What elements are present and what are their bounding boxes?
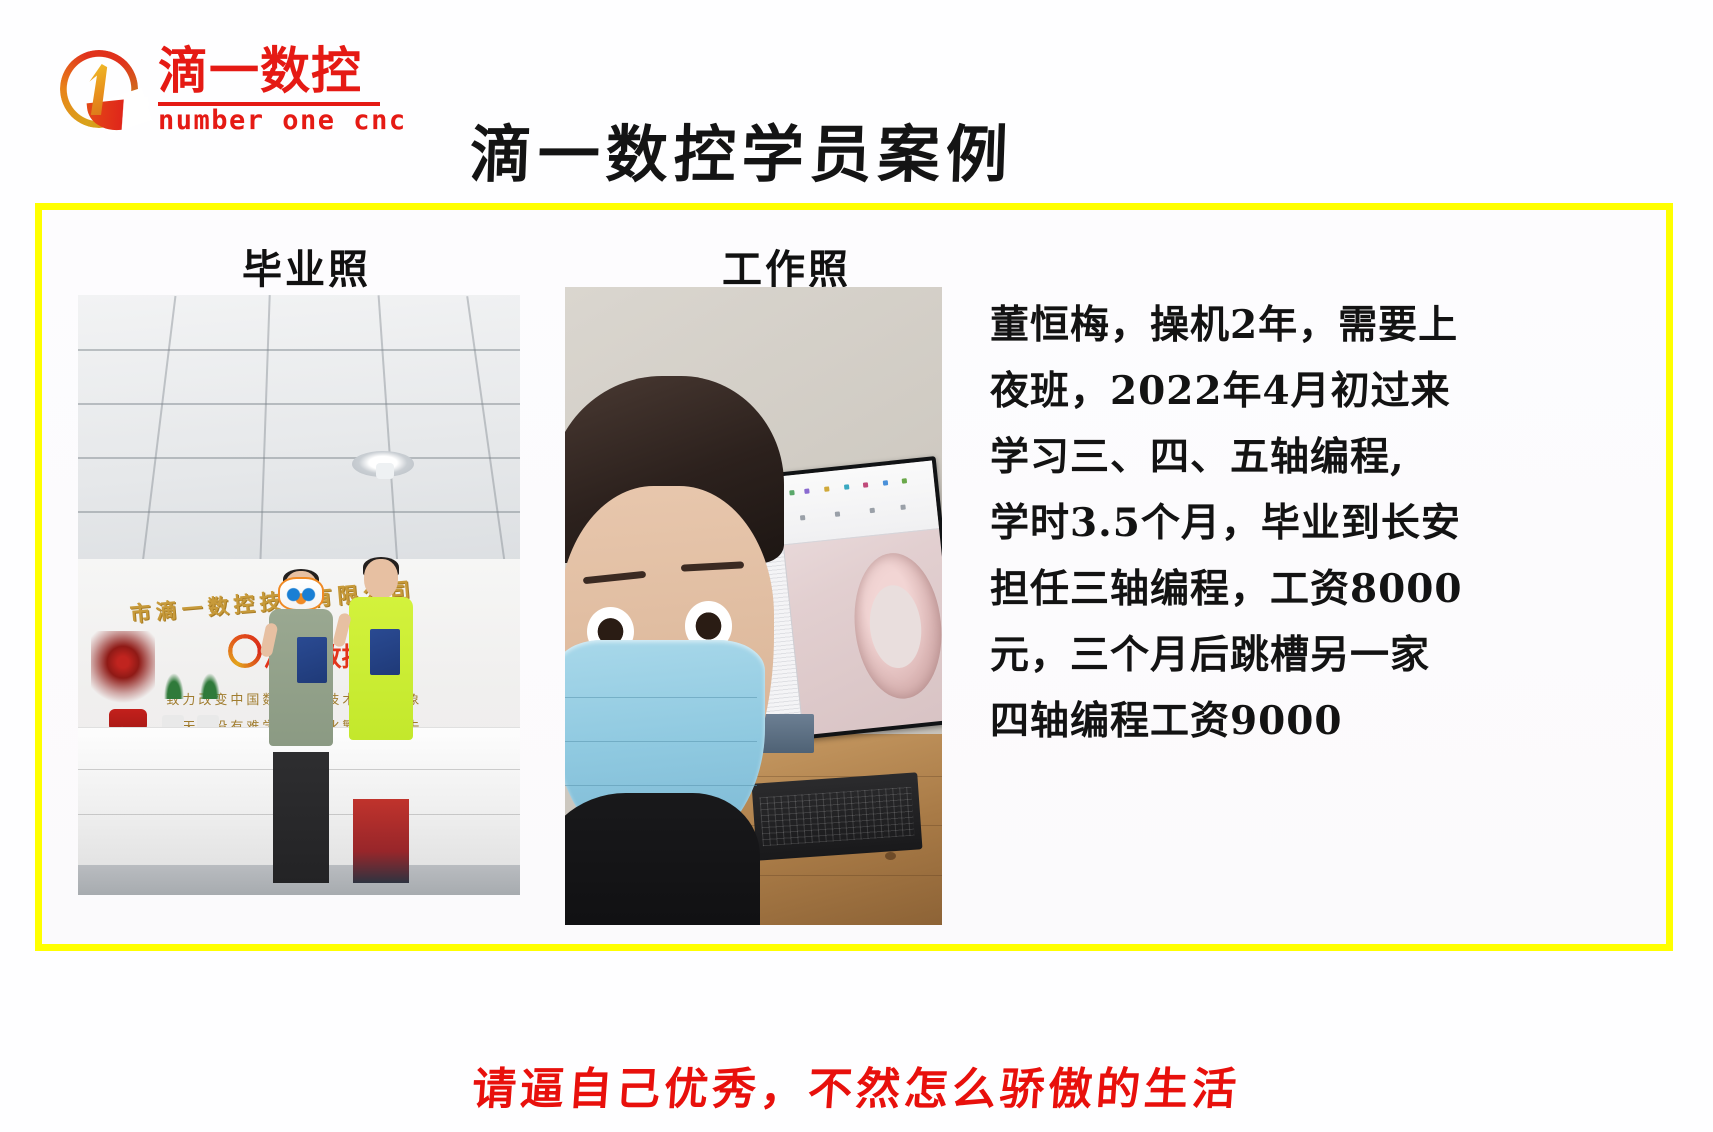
plant-leaves <box>200 673 220 699</box>
student-person-left <box>259 571 343 883</box>
face-sticker-icon <box>278 577 324 611</box>
mask-pleat <box>565 785 757 787</box>
desk-mark <box>885 852 896 860</box>
toolbar-icon <box>902 478 907 483</box>
mask-pleat <box>565 697 757 699</box>
number-one-circle-logo-icon <box>58 48 150 134</box>
story-line: 担任三轴编程，工资8000 <box>990 556 1590 622</box>
page-title: 滴一数控学员案例 <box>468 104 1071 194</box>
person-head <box>364 559 398 599</box>
caption-graduation-photo: 毕业照 <box>242 237 371 295</box>
brand-logo: 滴一数控 number one cnc <box>58 42 388 140</box>
toolbar-icon <box>901 504 906 509</box>
toolbar-icon <box>799 514 804 519</box>
toolbar-icon <box>824 486 829 491</box>
toolbar-icon <box>789 489 794 494</box>
certificate <box>370 629 400 675</box>
ceiling-grid-line <box>78 403 520 405</box>
plant-leaves <box>164 673 184 699</box>
red-blossom-arrangement <box>91 631 155 709</box>
person-trousers <box>273 752 329 883</box>
toolbar-icon <box>835 511 840 516</box>
toolbar-icon <box>882 480 887 485</box>
toolbar-icon <box>863 482 868 487</box>
person-shorts <box>353 799 409 883</box>
student-selfie-person <box>565 376 784 925</box>
ceiling-light-core <box>376 463 394 479</box>
person-shoulder <box>565 793 760 925</box>
toolbar-icon <box>870 507 875 512</box>
mask-pleat <box>565 741 757 743</box>
story-line: 学习三、四、五轴编程, <box>990 424 1590 490</box>
graduation-photo: 市滴一数控技术有限公司 滴一数控 致力改变中国数控行业技术保守现象 让天下没有难… <box>78 295 520 895</box>
student-case-description: 董恒梅，操机2年，需要上 夜班，2022年4月初过来 学习三、四、五轴编程, 学… <box>990 292 1590 754</box>
ceiling-grid-line <box>78 457 520 459</box>
ceiling <box>78 295 520 565</box>
ceiling-grid-line <box>78 511 520 513</box>
work-photo <box>565 287 942 925</box>
story-line: 夜班，2022年4月初过来 <box>990 358 1590 424</box>
story-line: 董恒梅，操机2年，需要上 <box>990 292 1590 358</box>
logo-brand-zh: 滴一数控 <box>158 44 362 98</box>
student-person-right <box>334 559 427 883</box>
logo-brand-en: number one cnc <box>158 104 407 138</box>
toolbar-icon <box>805 488 810 493</box>
certificate <box>297 637 327 683</box>
toolbar-icon <box>843 484 848 489</box>
ceiling-grid-line <box>78 349 520 351</box>
story-line: 学时3.5个月，毕业到长安 <box>990 490 1590 556</box>
motivational-slogan: 请逼自己优秀，不然怎么骄傲的生活 <box>0 1053 1713 1117</box>
story-line: 四轴编程工资9000 <box>990 688 1590 754</box>
story-line: 元，三个月后跳槽另一家 <box>990 622 1590 688</box>
